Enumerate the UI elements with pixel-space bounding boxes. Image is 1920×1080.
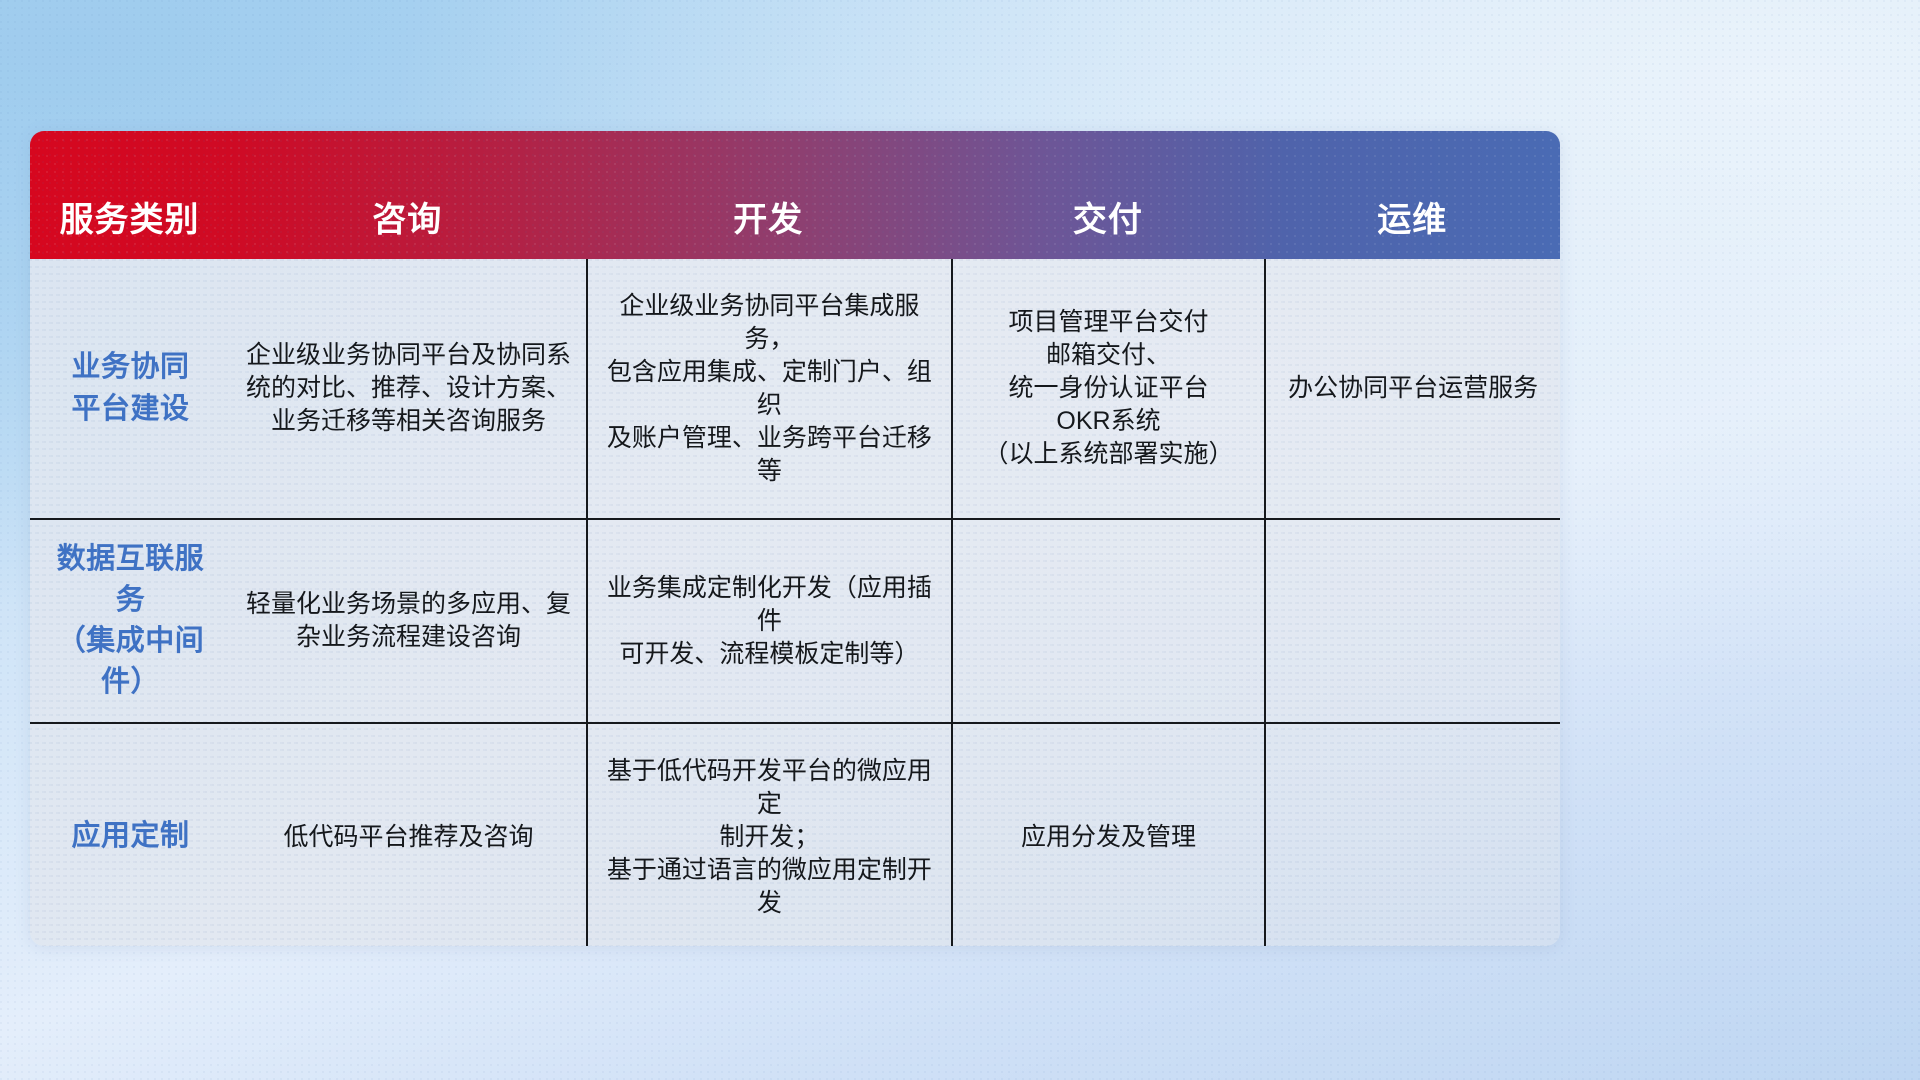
cell-delivery-3: 应用分发及管理 [951, 724, 1264, 946]
cell-operations-3 [1264, 724, 1560, 946]
table-header-row: 服务类别 咨询 开发 交付 运维 [30, 131, 1560, 259]
cell-development-3: 基于低代码开发平台的微应用定 制开发； 基于通过语言的微应用定制开发 [586, 724, 951, 946]
cell-development-1: 企业级业务协同平台集成服务， 包含应用集成、定制门户、组织 及账户管理、业务跨平… [586, 259, 951, 518]
cell-consulting-2: 轻量化业务场景的多应用、复 杂业务流程建设咨询 [231, 520, 586, 722]
cell-operations-2 [1264, 520, 1560, 722]
cell-consulting-3: 低代码平台推荐及咨询 [231, 724, 586, 946]
cell-category-3: 应用定制 [30, 724, 231, 946]
column-header-operations: 运维 [1265, 131, 1560, 259]
table-row: 应用定制 低代码平台推荐及咨询 基于低代码开发平台的微应用定 制开发； 基于通过… [30, 722, 1560, 946]
cell-delivery-1: 项目管理平台交付 邮箱交付、 统一身份认证平台 OKR系统 （以上系统部署实施） [951, 259, 1264, 518]
column-header-development: 开发 [585, 131, 951, 259]
column-header-delivery: 交付 [951, 131, 1264, 259]
cell-delivery-2 [951, 520, 1264, 722]
cell-category-1: 业务协同 平台建设 [30, 259, 231, 518]
column-header-consulting: 咨询 [229, 131, 585, 259]
service-matrix-table: 服务类别 咨询 开发 交付 运维 业务协同 平台建设 企业级业务协同平台及协同系… [30, 131, 1560, 946]
slide-background: 服务类别 咨询 开发 交付 运维 业务协同 平台建设 企业级业务协同平台及协同系… [0, 0, 1920, 1080]
cell-operations-1: 办公协同平台运营服务 [1264, 259, 1560, 518]
cell-category-2: 数据互联服务 （集成中间件） [30, 520, 231, 722]
table-row: 业务协同 平台建设 企业级业务协同平台及协同系 统的对比、推荐、设计方案、 业务… [30, 259, 1560, 518]
table-body: 业务协同 平台建设 企业级业务协同平台及协同系 统的对比、推荐、设计方案、 业务… [30, 259, 1560, 946]
cell-development-2: 业务集成定制化开发（应用插件 可开发、流程模板定制等） [586, 520, 951, 722]
cell-consulting-1: 企业级业务协同平台及协同系 统的对比、推荐、设计方案、 业务迁移等相关咨询服务 [231, 259, 586, 518]
table-row: 数据互联服务 （集成中间件） 轻量化业务场景的多应用、复 杂业务流程建设咨询 业… [30, 518, 1560, 722]
column-header-category: 服务类别 [30, 131, 229, 259]
